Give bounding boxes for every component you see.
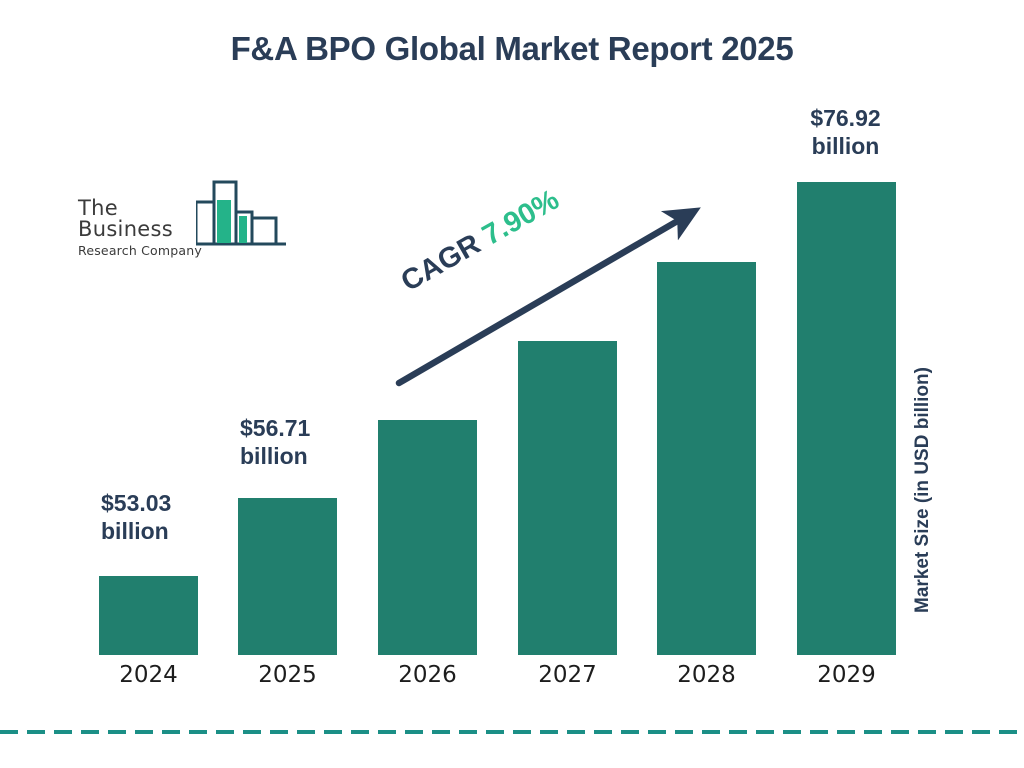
x-axis-label-2028: 2028 bbox=[657, 662, 756, 688]
bar-2028 bbox=[657, 262, 756, 655]
bar-2025 bbox=[238, 498, 337, 655]
x-axis-label-2029: 2029 bbox=[797, 662, 896, 688]
y-axis-title-text: Market Size (in USD billion) bbox=[912, 300, 934, 680]
bar-2026 bbox=[378, 420, 477, 655]
market-report-chart: F&A BPO Global Market Report 2025 The Bu… bbox=[0, 0, 1024, 768]
bar-2024 bbox=[99, 576, 198, 655]
value-label-2029-unit: billion bbox=[788, 132, 903, 160]
bar-chart-logo-mark-icon bbox=[196, 178, 286, 246]
cagr-value: 7.90% bbox=[477, 184, 564, 252]
value-label-2025-unit: billion bbox=[240, 442, 310, 470]
value-label-2024: $53.03 billion bbox=[101, 489, 171, 545]
y-axis-title: Market Size (in USD billion) bbox=[912, 0, 934, 300]
value-label-2029-amount: $76.92 bbox=[788, 104, 903, 132]
value-label-2024-unit: billion bbox=[101, 517, 171, 545]
bar-2029 bbox=[797, 182, 896, 655]
page-title: F&A BPO Global Market Report 2025 bbox=[0, 30, 1024, 68]
bar-2027 bbox=[518, 341, 617, 655]
x-axis-label-2025: 2025 bbox=[238, 662, 337, 688]
x-axis-label-2027: 2027 bbox=[518, 662, 617, 688]
cagr-label: CAGR bbox=[396, 228, 486, 298]
value-label-2024-amount: $53.03 bbox=[101, 489, 171, 517]
x-axis-label-2024: 2024 bbox=[99, 662, 198, 688]
x-axis-label-2026: 2026 bbox=[378, 662, 477, 688]
cagr-annotation: CAGR 7.90% bbox=[396, 184, 565, 299]
value-label-2025-amount: $56.71 bbox=[240, 414, 310, 442]
value-label-2029: $76.92 billion bbox=[788, 104, 903, 160]
value-label-2025: $56.71 billion bbox=[240, 414, 310, 470]
company-logo: The Business Research Company bbox=[78, 178, 283, 248]
logo-line-2: Research Company bbox=[78, 243, 208, 258]
logo-line-1: The Business bbox=[78, 198, 208, 240]
bottom-divider bbox=[0, 730, 1024, 734]
logo-text: The Business Research Company bbox=[78, 198, 208, 258]
